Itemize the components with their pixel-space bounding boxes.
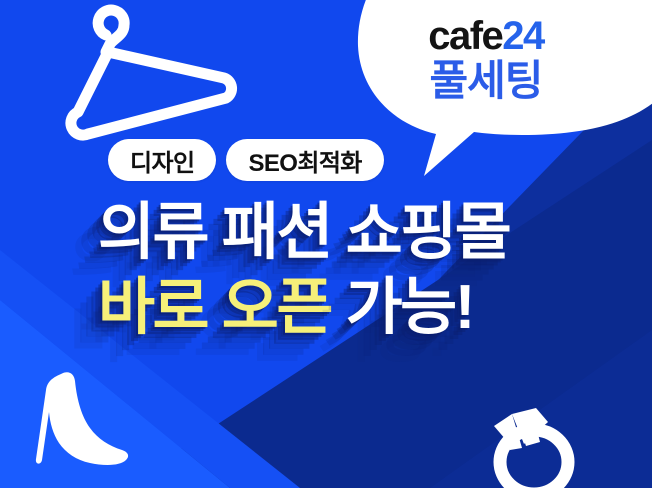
headline-highlight: 바로 오픈: [98, 273, 346, 342]
high-heel-shoe-icon: [24, 368, 144, 478]
promo-banner: cafe24 풀세팅 디자인 SEO최적화 의류 패션 쇼핑몰 바로 오픈 가능…: [0, 0, 652, 488]
clothes-hanger-icon: [46, 2, 256, 144]
speech-bubble: cafe24 풀세팅: [352, 0, 652, 182]
headline-line-1: 의류 패션 쇼핑몰: [98, 196, 509, 269]
headline-rest: 가능!: [346, 273, 473, 342]
brand-subtitle: 풀세팅: [352, 59, 620, 103]
headline-block: 의류 패션 쇼핑몰 바로 오픈 가능!: [98, 196, 509, 344]
badge-seo[interactable]: SEO최적화: [226, 139, 383, 181]
badge-seo-label: SEO최적화: [248, 143, 361, 178]
brand-name-primary: cafe: [428, 14, 502, 58]
badge-row: 디자인 SEO최적화: [108, 139, 384, 181]
badge-design[interactable]: 디자인: [108, 139, 216, 181]
diamond-ring-icon: [466, 404, 590, 488]
badge-design-label: 디자인: [130, 143, 194, 178]
brand-logo: cafe24: [352, 16, 620, 56]
bubble-content: cafe24 풀세팅: [352, 16, 620, 103]
headline-line-2: 바로 오픈 가능!: [98, 271, 509, 344]
brand-name-accent: 24: [502, 14, 544, 58]
